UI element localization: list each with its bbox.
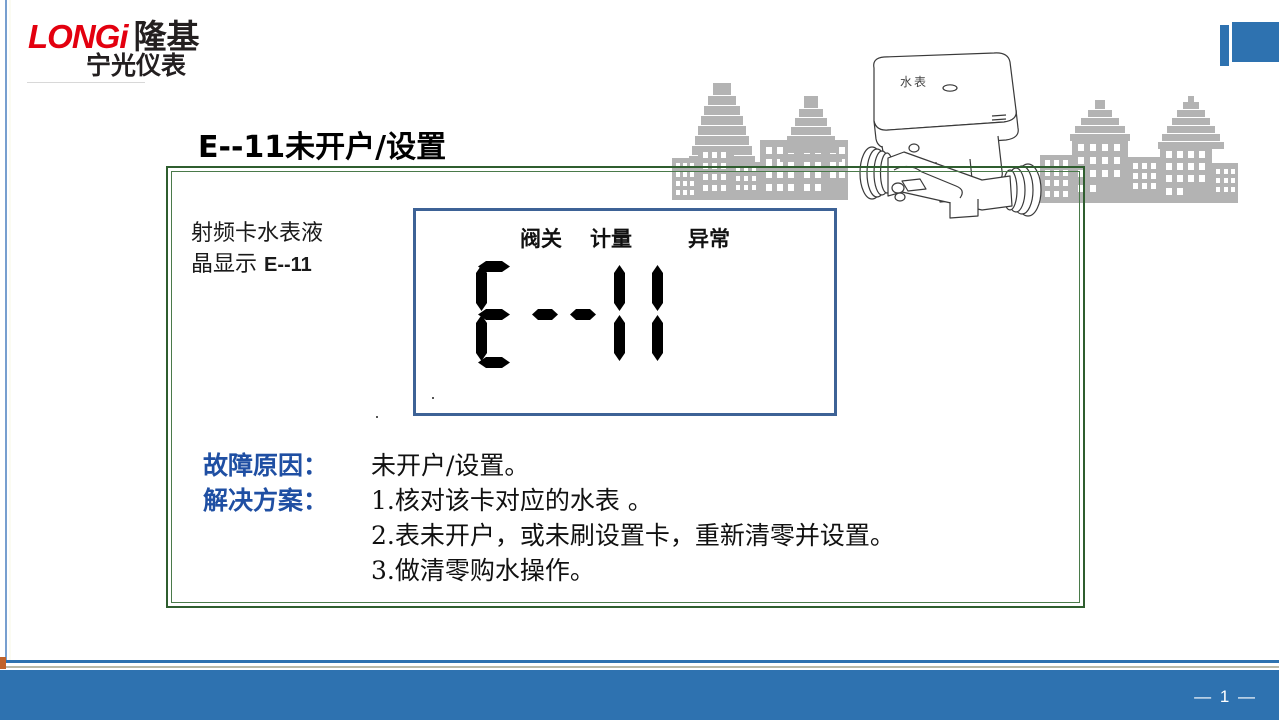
seg-char-dash-2 [566,259,600,369]
seg-char-e [468,259,524,369]
lcd-caption-prefix: 晶显示 [191,252,264,277]
footer-rule-blue [5,660,1279,663]
lcd-flag-valve-closed: 阀关 [520,223,562,253]
decoration-bar [1220,25,1229,66]
footer-bar [0,670,1279,720]
lcd-status-flags: 阀关计量异常 [416,223,834,253]
lcd-caption: 射频卡水表液 晶显示 E--11 [191,218,381,281]
lcd-caption-line1: 射频卡水表液 [191,218,381,249]
building-tower-d [1158,97,1224,149]
water-meter-label: 水表 [900,73,928,90]
seg-char-one-2 [642,259,676,369]
logo-chinese-sub: 宁光仪表 [86,46,186,82]
solution-line-2: 2.表未开户，或未刷设置卡，重新清零并设置。 [203,518,895,553]
explanation-block: 故障原因： 未开户/设置。 解决方案： 1.核对该卡对应的水表 。 2.表未开户… [203,448,895,588]
cause-line: 故障原因： 未开户/设置。 [203,448,895,483]
cause-text: 未开户/设置。 [371,448,529,483]
lcd-flag-abnormal: 异常 [688,223,730,253]
logo-underline-divider [27,82,145,83]
slide-canvas: LONGi隆基 宁光仪表 [0,0,1279,720]
solution-line-3: 3.做清零购水操作。 [203,553,895,588]
left-accent-rule-inner [9,0,11,662]
solution-item-3: 3.做清零购水操作。 [371,553,595,588]
seg-char-one-1 [604,259,638,369]
lcd-flag-metering: 计量 [590,223,632,253]
footer-accent-mark [0,657,6,669]
cause-label: 故障原因： [203,448,371,483]
solution-item-2: 2.表未开户，或未刷设置卡，重新清零并设置。 [371,518,895,553]
lcd-seven-segment-display [468,259,680,369]
lcd-caption-code: E--11 [264,254,312,276]
lcd-corner-dot [432,397,434,399]
company-logo: LONGi隆基 宁光仪表 [28,10,238,82]
page-title: E--11未开户/设置 [198,122,446,166]
decoration-block [1232,22,1279,62]
solution-item-1: 1.核对该卡对应的水表 。 [371,483,653,518]
footer-rule-gray [5,666,1279,668]
lcd-panel: 阀关计量异常 [413,208,837,416]
solution-label: 解决方案： [203,483,371,518]
left-accent-rule [5,0,7,662]
seg-char-dash-1 [528,259,562,369]
stray-dot-left [376,416,378,418]
page-number: — 1 — [1194,687,1257,707]
lcd-caption-line2: 晶显示 E--11 [191,249,381,281]
solution-line-1: 解决方案： 1.核对该卡对应的水表 。 [203,483,895,518]
building-tower-c [1070,101,1130,141]
